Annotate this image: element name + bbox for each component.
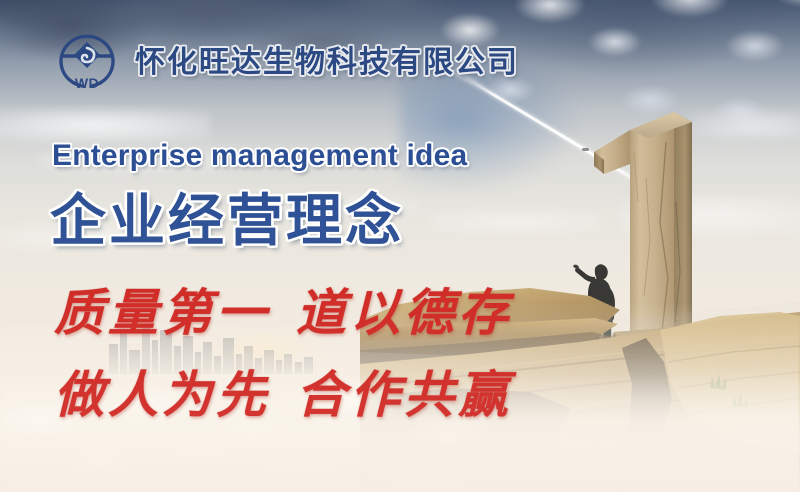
slogan-2-left: 做人为先 — [54, 367, 270, 423]
headline-chinese: 企业经营理念 — [50, 176, 404, 257]
slogan-1-left: 质量第一 — [54, 285, 270, 341]
company-identity: WD 怀化旺达生物科技有限公司 — [52, 26, 519, 92]
slogan-1-right: 道以德存 — [296, 285, 512, 341]
svg-text:WD: WD — [75, 75, 99, 91]
cloud-wisp — [0, 108, 210, 142]
slogan-line-1: 质量第一道以德存 — [54, 273, 512, 345]
company-name: 怀化旺达生物科技有限公司 — [135, 37, 519, 81]
headline-english: Enterprise management idea — [52, 139, 467, 173]
wd-swirl-logo-icon: WD — [52, 26, 122, 92]
promotional-banner: WD 怀化旺达生物科技有限公司 Enterprise management id… — [0, 0, 800, 492]
slogan-line-2: 做人为先合作共赢 — [54, 355, 512, 427]
slogan-2-right: 合作共赢 — [296, 367, 512, 423]
